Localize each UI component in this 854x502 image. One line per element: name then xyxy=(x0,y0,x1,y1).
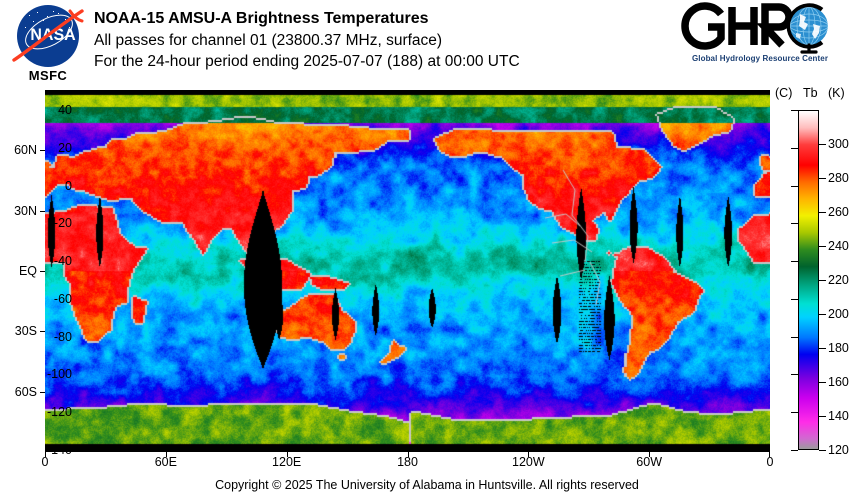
y-tick-label: EQ xyxy=(0,264,37,278)
colorbar-kelvin-label: 200 xyxy=(828,307,849,321)
colorbar[interactable] xyxy=(798,110,819,450)
colorbar-variable-label: Tb xyxy=(803,86,818,100)
brightness-temperature-map[interactable] xyxy=(45,90,770,452)
colorbar-gradient xyxy=(799,111,818,449)
y-tick-mark xyxy=(40,271,45,272)
colorbar-kelvin-tick xyxy=(819,246,826,247)
page-title: NOAA-15 AMSU-A Brightness Temperatures xyxy=(94,8,520,30)
colorbar-celsius-label: 0 xyxy=(65,179,72,193)
colorbar-kelvin-tick xyxy=(819,450,826,451)
colorbar-kelvin-label: 300 xyxy=(828,137,849,151)
x-tick-label: 60W xyxy=(636,455,662,469)
colorbar-celsius-tick xyxy=(791,412,798,413)
y-tick-label: 60N xyxy=(0,143,37,157)
y-tick-label: 60S xyxy=(0,385,37,399)
colorbar-celsius-label: -120 xyxy=(47,405,72,419)
colorbar-kelvin-tick xyxy=(819,382,826,383)
nasa-logo: NASA MSFC xyxy=(8,4,88,86)
y-tick-mark xyxy=(40,211,45,212)
colorbar-celsius-label: -140 xyxy=(47,443,72,457)
y-tick-label: 30N xyxy=(0,204,37,218)
colorbar-celsius-tick xyxy=(791,148,798,149)
page-subtitle-period: For the 24-hour period ending 2025-07-07… xyxy=(94,51,520,73)
colorbar-celsius-label: 40 xyxy=(58,103,72,117)
screenshot-root: NASA MSFC NOAA-15 AMSU-A Brightness Temp… xyxy=(0,0,854,502)
colorbar-kelvin-label: 280 xyxy=(828,171,849,185)
ghrc-logo: Global Hydrology Resource Center xyxy=(680,4,840,80)
x-tick-label: 0 xyxy=(767,455,774,469)
page-header: NASA MSFC NOAA-15 AMSU-A Brightness Temp… xyxy=(0,0,854,90)
colorbar-kelvin-tick xyxy=(819,212,826,213)
nasa-center-label: MSFC xyxy=(8,68,88,83)
colorbar-kelvin-tick xyxy=(819,416,826,417)
colorbar-celsius-label: -60 xyxy=(54,292,72,306)
colorbar-celsius-label: -100 xyxy=(47,367,72,381)
ghrc-full-name: Global Hydrology Resource Center xyxy=(680,54,840,63)
y-tick-mark xyxy=(40,150,45,151)
colorbar-kelvin-tick xyxy=(819,178,826,179)
colorbar-kelvin-label: 120 xyxy=(828,443,849,457)
colorbar-kelvin-label: 260 xyxy=(828,205,849,219)
colorbar-kelvin-label: 180 xyxy=(828,341,849,355)
ghrc-acronym-icon xyxy=(680,0,840,56)
map-raster xyxy=(45,90,770,452)
y-tick-mark xyxy=(40,331,45,332)
colorbar-celsius-tick xyxy=(791,223,798,224)
colorbar-celsius-tick xyxy=(791,186,798,187)
colorbar-kelvin-label: 220 xyxy=(828,273,849,287)
colorbar-celsius-label: -40 xyxy=(54,254,72,268)
nasa-swoosh-icon xyxy=(10,8,86,64)
colorbar-kelvin-tick xyxy=(819,348,826,349)
colorbar-unit-kelvin: (K) xyxy=(828,86,845,100)
colorbar-kelvin-tick xyxy=(819,314,826,315)
x-tick-label: 120W xyxy=(512,455,545,469)
colorbar-celsius-tick xyxy=(791,299,798,300)
colorbar-celsius-tick xyxy=(791,450,798,451)
colorbar-kelvin-label: 160 xyxy=(828,375,849,389)
x-tick-label: 180 xyxy=(397,455,418,469)
colorbar-celsius-label: -80 xyxy=(54,330,72,344)
y-tick-mark xyxy=(40,392,45,393)
page-subtitle-channel: All passes for channel 01 (23800.37 MHz,… xyxy=(94,30,520,52)
title-block: NOAA-15 AMSU-A Brightness Temperatures A… xyxy=(94,8,520,73)
x-tick-label: 60E xyxy=(155,455,177,469)
colorbar-celsius-label: -20 xyxy=(54,216,72,230)
copyright-notice: Copyright © 2025 The University of Alaba… xyxy=(0,478,854,492)
colorbar-celsius-label: 20 xyxy=(58,141,72,155)
colorbar-celsius-tick xyxy=(791,374,798,375)
y-tick-label: 30S xyxy=(0,324,37,338)
x-tick-label: 120E xyxy=(272,455,301,469)
colorbar-kelvin-tick xyxy=(819,144,826,145)
colorbar-unit-celsius: (C) xyxy=(775,86,792,100)
colorbar-kelvin-label: 240 xyxy=(828,239,849,253)
colorbar-celsius-tick xyxy=(791,110,798,111)
colorbar-celsius-tick xyxy=(791,337,798,338)
colorbar-kelvin-label: 140 xyxy=(828,409,849,423)
x-tick-label: 0 xyxy=(42,455,49,469)
colorbar-kelvin-tick xyxy=(819,280,826,281)
colorbar-celsius-tick xyxy=(791,261,798,262)
